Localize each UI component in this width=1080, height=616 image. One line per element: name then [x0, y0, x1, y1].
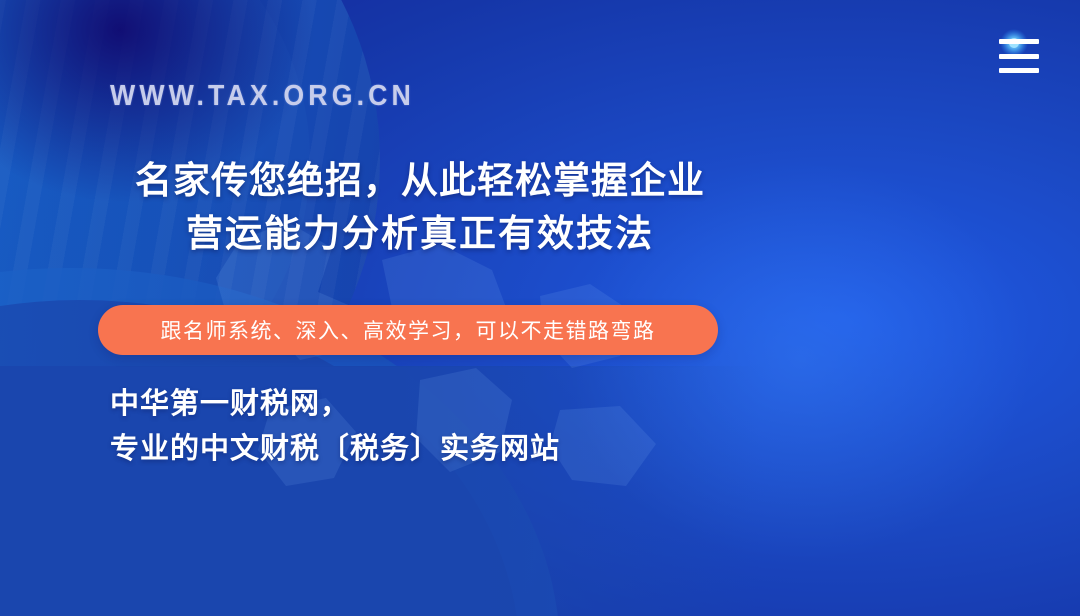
hamburger-bar-3	[999, 68, 1039, 73]
highlight-pill-label: 跟名师系统、深入、高效学习，可以不走错路弯路	[161, 315, 656, 345]
site-url-text: WWW.TAX.ORG.CN	[110, 80, 415, 113]
hamburger-bar-2	[999, 54, 1039, 59]
hamburger-bar-1	[999, 39, 1039, 44]
headline-line-2: 营运能力分析真正有效技法	[90, 208, 750, 261]
tagline-line-1: 中华第一财税网，	[110, 382, 560, 427]
highlight-pill[interactable]: 跟名师系统、深入、高效学习，可以不走错路弯路	[98, 305, 718, 355]
hamburger-menu-icon[interactable]	[999, 39, 1039, 73]
promo-banner: WWW.TAX.ORG.CN 名家传您绝招，从此轻松掌握企业 营运能力分析真正有…	[0, 0, 1080, 616]
headline: 名家传您绝招，从此轻松掌握企业 营运能力分析真正有效技法	[90, 155, 750, 260]
tagline-line-2: 专业的中文财税〔税务〕实务网站	[110, 427, 560, 472]
banner-content: WWW.TAX.ORG.CN 名家传您绝招，从此轻松掌握企业 营运能力分析真正有…	[0, 0, 1080, 616]
headline-line-1: 名家传您绝招，从此轻松掌握企业	[90, 155, 750, 208]
tagline: 中华第一财税网， 专业的中文财税〔税务〕实务网站	[110, 382, 560, 472]
